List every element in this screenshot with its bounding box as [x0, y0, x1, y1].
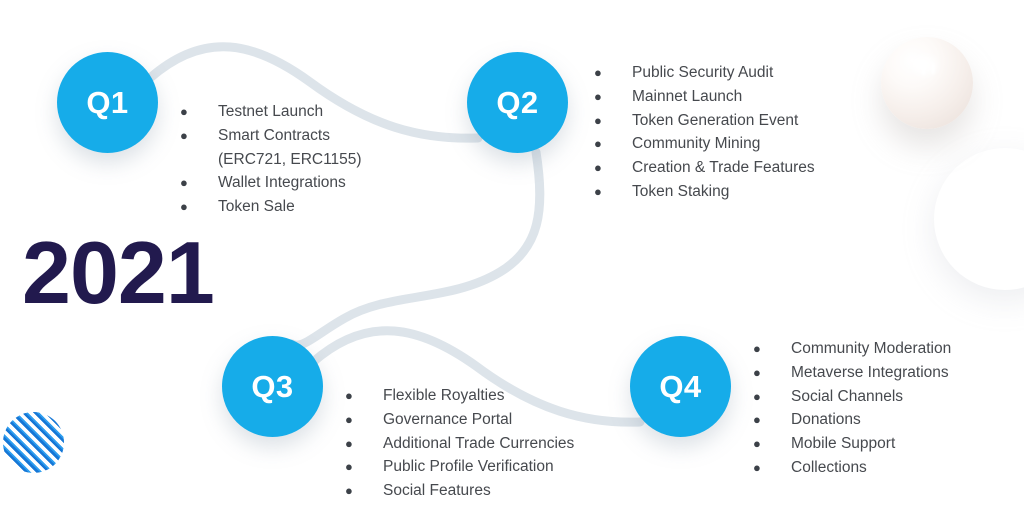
list-item-label: Wallet Integrations — [218, 171, 346, 195]
list-item: Additional Trade Currencies — [345, 432, 574, 456]
list-item-label: (ERC721, ERC1155) — [218, 148, 362, 172]
list-item: Community Mining — [594, 132, 815, 156]
list-item: Social Features — [345, 479, 574, 503]
list-item-label: Donations — [791, 408, 861, 432]
bullet-dot-icon — [753, 385, 791, 409]
bullet-dot-icon — [180, 171, 218, 195]
list-item: Metaverse Integrations — [753, 361, 951, 385]
quarter-node-q1[interactable]: Q1 — [57, 52, 158, 153]
bullet-dot-icon — [345, 384, 383, 408]
list-item-label: Additional Trade Currencies — [383, 432, 574, 456]
quarter-node-q2[interactable]: Q2 — [467, 52, 568, 153]
bullet-dot-icon — [753, 337, 791, 361]
bullet-dot-icon — [594, 156, 632, 180]
bullet-dot-icon — [345, 479, 383, 503]
list-item-label: Social Channels — [791, 385, 903, 409]
quarter-list-q1: Testnet Launch Smart Contracts (ERC721, … — [180, 100, 362, 219]
year-label: 2021 — [22, 229, 214, 317]
list-item: Collections — [753, 456, 951, 480]
list-item: Testnet Launch — [180, 100, 362, 124]
list-item: Token Staking — [594, 180, 815, 204]
bullet-dot-icon — [594, 61, 632, 85]
roadmap-infographic: 2021 Q1 Testnet Launch Smart Contracts (… — [0, 0, 1024, 519]
bullet-dot-icon — [345, 432, 383, 456]
list-item: Flexible Royalties — [345, 384, 574, 408]
list-item: Donations — [753, 408, 951, 432]
quarter-list-q4: Community Moderation Metaverse Integrati… — [753, 337, 951, 480]
list-item: Social Channels — [753, 385, 951, 409]
bullet-dot-icon — [753, 456, 791, 480]
list-item-label: Community Moderation — [791, 337, 951, 361]
list-item: Public Security Audit — [594, 61, 815, 85]
list-item: Creation & Trade Features — [594, 156, 815, 180]
list-item: Public Profile Verification — [345, 455, 574, 479]
bullet-dot-icon — [345, 455, 383, 479]
quarter-list-q2: Public Security Audit Mainnet Launch Tok… — [594, 61, 815, 204]
list-item-label: Social Features — [383, 479, 491, 503]
bullet-dot-icon — [180, 124, 218, 148]
list-item: Token Generation Event — [594, 109, 815, 133]
quarter-node-q3[interactable]: Q3 — [222, 336, 323, 437]
list-item-label: Testnet Launch — [218, 100, 323, 124]
list-item-label: Creation & Trade Features — [632, 156, 815, 180]
bullet-dot-icon — [753, 432, 791, 456]
quarter-label-q1: Q1 — [86, 85, 128, 121]
list-item: Smart Contracts — [180, 124, 362, 148]
quarter-label-q4: Q4 — [659, 369, 701, 405]
list-item: Token Sale — [180, 195, 362, 219]
list-item-label: Token Generation Event — [632, 109, 798, 133]
list-item-label: Token Staking — [632, 180, 729, 204]
list-item-label: Metaverse Integrations — [791, 361, 949, 385]
bullet-dot-icon — [180, 100, 218, 124]
list-item: Mainnet Launch — [594, 85, 815, 109]
bullet-dot-icon — [753, 408, 791, 432]
list-item-continuation: (ERC721, ERC1155) — [180, 148, 362, 172]
quarter-node-q4[interactable]: Q4 — [630, 336, 731, 437]
list-item-label: Collections — [791, 456, 867, 480]
list-item-label: Mainnet Launch — [632, 85, 742, 109]
bullet-dot-icon — [594, 109, 632, 133]
list-item-label: Smart Contracts — [218, 124, 330, 148]
list-item-label: Token Sale — [218, 195, 295, 219]
list-item: Governance Portal — [345, 408, 574, 432]
bullet-dot-icon — [594, 85, 632, 109]
list-item-label: Public Security Audit — [632, 61, 773, 85]
list-item: Wallet Integrations — [180, 171, 362, 195]
list-item: Community Moderation — [753, 337, 951, 361]
quarter-label-q3: Q3 — [251, 369, 293, 405]
list-item-label: Governance Portal — [383, 408, 512, 432]
list-item-label: Public Profile Verification — [383, 455, 554, 479]
quarter-list-q3: Flexible Royalties Governance Portal Add… — [345, 384, 574, 503]
list-item-label: Mobile Support — [791, 432, 895, 456]
bullet-dot-icon — [180, 195, 218, 219]
bullet-dot-icon — [594, 180, 632, 204]
list-item-label: Flexible Royalties — [383, 384, 504, 408]
list-item: Mobile Support — [753, 432, 951, 456]
bullet-dot-icon — [594, 132, 632, 156]
quarter-label-q2: Q2 — [496, 85, 538, 121]
bullet-dot-icon — [345, 408, 383, 432]
list-item-label: Community Mining — [632, 132, 760, 156]
bullet-dot-icon — [753, 361, 791, 385]
